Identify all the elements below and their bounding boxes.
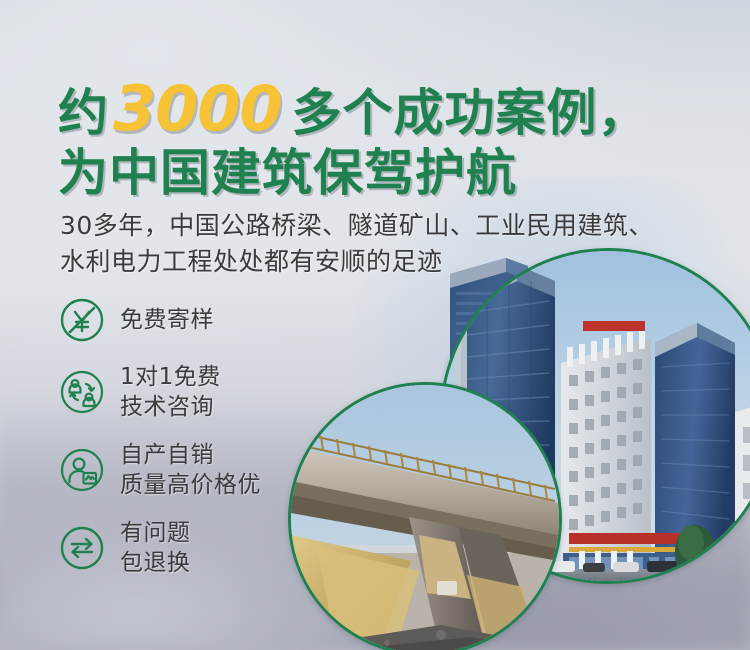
feature-line-1: 1对1免费 [120, 362, 221, 392]
page-title: 约 3000 多个成功案例， 为中国建筑保驾护航 [58, 78, 649, 198]
promo-banner: 约 3000 多个成功案例， 为中国建筑保驾护航 30多年，中国公路桥梁、隧道矿… [0, 0, 750, 650]
feature-line-2: 技术咨询 [120, 392, 221, 422]
headline-prefix: 约 [58, 88, 109, 138]
consultation-icon [58, 368, 106, 416]
headline-line-2: 为中国建筑保驾护航 [58, 148, 649, 198]
feature-line-2: 包退换 [120, 548, 191, 578]
bridge-photo [288, 382, 562, 650]
headline-line-1: 约 3000 多个成功案例， [58, 78, 649, 140]
feature-text: 有问题 包退换 [120, 518, 191, 578]
feature-line-1: 免费寄样 [120, 305, 214, 335]
feature-item-exchange: 有问题 包退换 [58, 518, 261, 578]
feature-line-2: 质量高价格优 [120, 470, 261, 500]
feature-line-1: 有问题 [120, 518, 191, 548]
feature-list: 免费寄样 1对1免费 技术咨询 [58, 296, 261, 596]
bridge-photo-image [291, 385, 559, 650]
self-produced-icon [58, 446, 106, 494]
rooftop-sign-upper [583, 321, 645, 331]
subtitle-line-1: 30多年，中国公路桥梁、隧道矿山、工业民用建筑、 [60, 208, 720, 244]
free-sample-icon [58, 296, 106, 344]
feature-item-consultation: 1对1免费 技术咨询 [58, 362, 261, 422]
feature-text: 1对1免费 技术咨询 [120, 362, 221, 422]
feature-line-1: 自产自销 [120, 440, 261, 470]
feature-text: 自产自销 质量高价格优 [120, 440, 261, 500]
headline-suffix: 多个成功案例， [292, 88, 649, 138]
headline-number: 3000 [109, 78, 292, 140]
feature-item-free-sample: 免费寄样 [58, 296, 261, 344]
feature-item-self-produced: 自产自销 质量高价格优 [58, 440, 261, 500]
facade-sign-lower [569, 533, 689, 552]
feature-text: 免费寄样 [120, 305, 214, 335]
exchange-icon [58, 524, 106, 572]
